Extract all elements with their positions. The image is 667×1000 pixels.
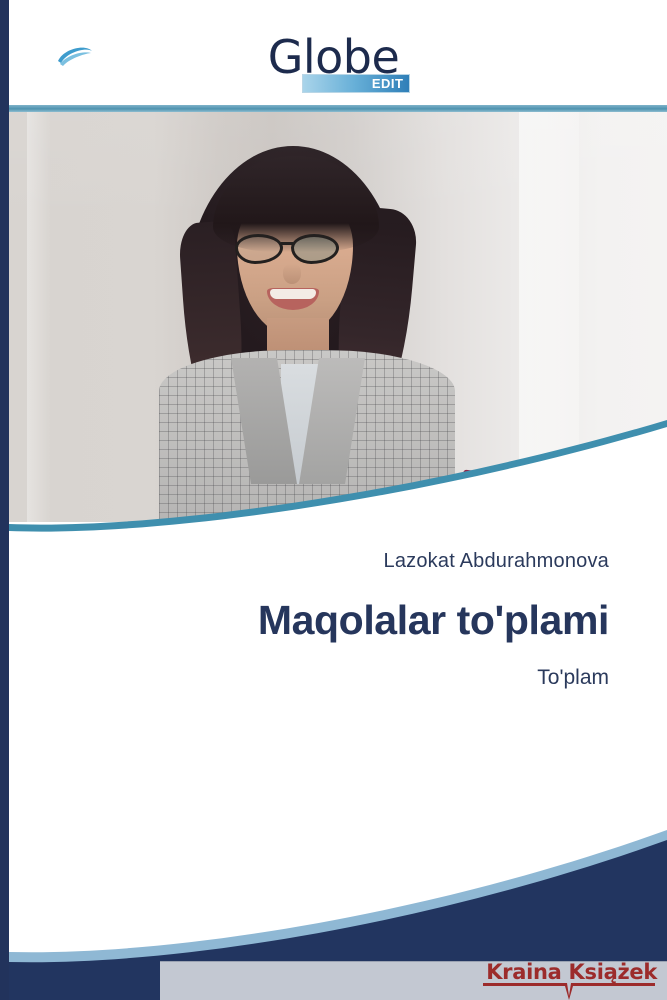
book-subtitle: To'plam bbox=[0, 664, 609, 692]
book-title: Maqolalar to'plami bbox=[0, 596, 609, 644]
open-book-icon bbox=[481, 981, 657, 1000]
book-cover: Globe EDIT bbox=[0, 0, 667, 1000]
photo-overlay-shade bbox=[9, 112, 667, 522]
retailer-watermark: Kraina Książek bbox=[475, 961, 659, 1000]
retailer-watermark-strip: Kraina Książek bbox=[160, 961, 667, 1000]
top-divider-rule bbox=[9, 105, 667, 112]
title-block: Lazokat Abdurahmonova Maqolalar to'plami… bbox=[0, 548, 667, 692]
book-spine bbox=[0, 0, 9, 1000]
cover-photo bbox=[9, 112, 667, 522]
globe-swoosh-icon bbox=[56, 40, 94, 74]
publisher-logo: Globe EDIT bbox=[0, 34, 667, 96]
author-name: Lazokat Abdurahmonova bbox=[0, 548, 609, 574]
publisher-badge: EDIT bbox=[302, 74, 410, 93]
publisher-badge-label: EDIT bbox=[372, 76, 404, 92]
